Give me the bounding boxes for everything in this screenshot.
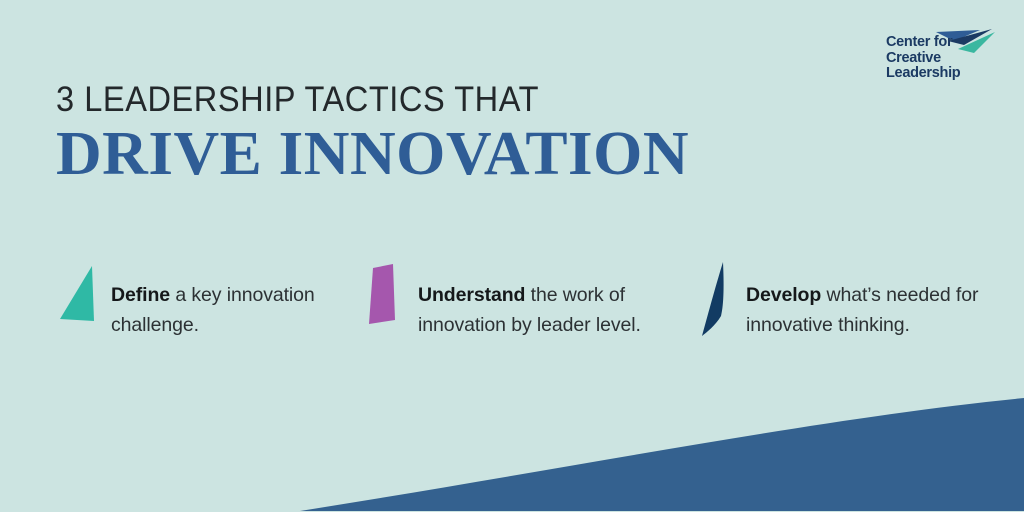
tactic-understand-text: Understand the work of innovation by lea… [418, 280, 668, 340]
tactic-item-develop: Develop what’s needed for innovative thi… [697, 258, 997, 353]
purple-quadrilateral-icon [363, 258, 411, 338]
logo-line-1: Center for [886, 35, 978, 51]
teal-triangle-icon [56, 258, 104, 338]
tactic-define-text: Define a key innovation challenge. [111, 280, 346, 340]
page-title: DRIVE INNOVATION [56, 122, 689, 186]
logo[interactable]: Center for Creative Leadership [886, 28, 996, 84]
logo-wordmark: Center for Creative Leadership [886, 35, 978, 82]
infographic-canvas: Center for Creative Leadership 3 LEADERS… [0, 0, 1024, 512]
tactic-develop-lead: Develop [746, 284, 821, 306]
logo-line-3: Leadership [886, 66, 978, 82]
logo-line-2: Creative [886, 51, 978, 67]
navy-blade-icon [697, 258, 745, 338]
tactic-item-define: Define a key innovation challenge. [56, 258, 346, 353]
tactic-item-understand: Understand the work of innovation by lea… [363, 258, 663, 353]
eyebrow-text: 3 LEADERSHIP TACTICS THAT [56, 82, 539, 118]
tactic-define-lead: Define [111, 284, 170, 306]
tactic-understand-lead: Understand [418, 284, 525, 306]
bottom-wave-decoration [0, 0, 1024, 512]
tactic-develop-text: Develop what’s needed for innovative thi… [746, 280, 996, 340]
